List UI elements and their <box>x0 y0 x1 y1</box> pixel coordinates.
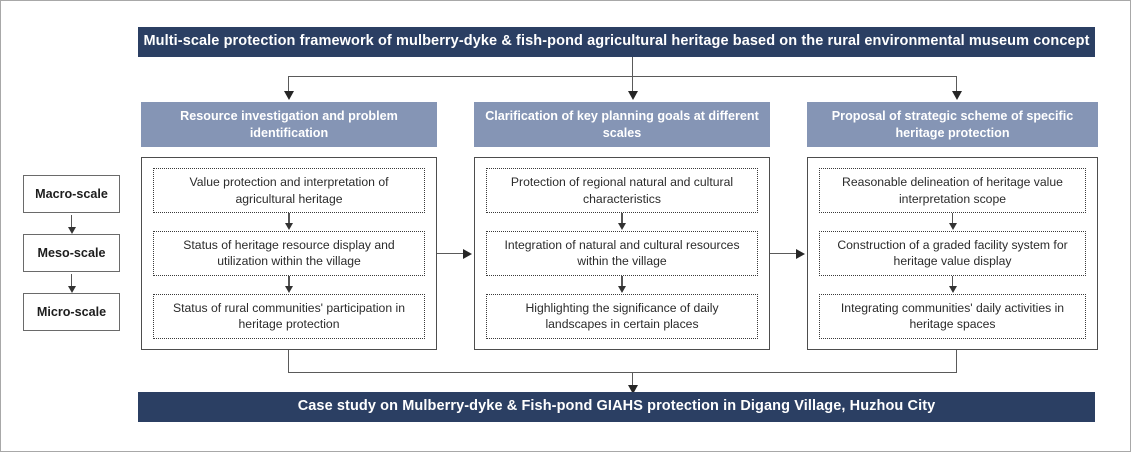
column-header-label: Proposal of strategic scheme of specific… <box>817 108 1088 142</box>
arrow-head-icon <box>618 223 626 230</box>
arrowhead-panel2-to-panel3 <box>796 249 805 259</box>
connector-bus-top <box>288 76 957 77</box>
inner-arrow-down <box>819 276 1086 294</box>
connector-bus-bottom <box>288 372 957 373</box>
column-panel-3: Reasonable delineation of heritage value… <box>807 157 1098 350</box>
inner-arrow-down <box>153 213 425 231</box>
column-panel-2: Protection of regional natural and cultu… <box>474 157 770 350</box>
scale-arrow-macro-to-meso <box>71 215 72 229</box>
arrow-head-icon <box>285 286 293 293</box>
column-header-label: Resource investigation and problem ident… <box>151 108 427 142</box>
scale-box-macro[interactable]: Macro-scale <box>23 175 120 213</box>
process-box[interactable]: Integration of natural and cultural reso… <box>486 231 758 276</box>
process-box[interactable]: Status of heritage resource display and … <box>153 231 425 276</box>
flowchart-diagram: Multi-scale protection framework of mulb… <box>0 0 1131 452</box>
scale-box-meso[interactable]: Meso-scale <box>23 234 120 272</box>
arrowhead-panel1-to-panel2 <box>463 249 472 259</box>
scale-label: Micro-scale <box>37 305 106 319</box>
connector-panel2-to-panel3 <box>770 253 798 254</box>
inner-arrow-down <box>486 213 758 231</box>
arrow-head-icon <box>949 223 957 230</box>
connector-leg-top-right <box>956 76 957 92</box>
arrowhead-to-column-3 <box>952 91 962 100</box>
connector-leg-bottom-left <box>288 350 289 373</box>
connector-leg-top-left <box>288 76 289 92</box>
arrow-head-icon <box>618 286 626 293</box>
top-banner-title: Multi-scale protection framework of mulb… <box>138 27 1095 57</box>
connector-panel1-to-panel2 <box>437 253 465 254</box>
arrow-head-icon <box>949 286 957 293</box>
column-header-label: Clarification of key planning goals at d… <box>484 108 760 142</box>
arrowhead-to-column-1 <box>284 91 294 100</box>
column-header-resource-investigation[interactable]: Resource investigation and problem ident… <box>141 102 437 147</box>
process-box[interactable]: Highlighting the significance of daily l… <box>486 294 758 339</box>
scale-box-micro[interactable]: Micro-scale <box>23 293 120 331</box>
column-header-strategic-scheme[interactable]: Proposal of strategic scheme of specific… <box>807 102 1098 147</box>
column-panel-1: Value protection and interpretation of a… <box>141 157 437 350</box>
process-box[interactable]: Protection of regional natural and cultu… <box>486 168 758 213</box>
process-box[interactable]: Integrating communities' daily activitie… <box>819 294 1086 339</box>
process-box[interactable]: Construction of a graded facility system… <box>819 231 1086 276</box>
inner-arrow-down <box>153 276 425 294</box>
process-box[interactable]: Status of rural communities' participati… <box>153 294 425 339</box>
inner-arrow-down <box>486 276 758 294</box>
column-header-planning-goals[interactable]: Clarification of key planning goals at d… <box>474 102 770 147</box>
process-box[interactable]: Value protection and interpretation of a… <box>153 168 425 213</box>
scale-label: Macro-scale <box>35 187 108 201</box>
scale-arrow-meso-to-micro <box>71 274 72 288</box>
arrow-head-icon <box>285 223 293 230</box>
bottom-banner-title: Case study on Mulberry-dyke & Fish-pond … <box>138 392 1095 422</box>
connector-leg-bottom-right <box>956 350 957 373</box>
arrowhead-to-column-2 <box>628 91 638 100</box>
inner-arrow-down <box>819 213 1086 231</box>
scale-label: Meso-scale <box>38 246 106 260</box>
process-box[interactable]: Reasonable delineation of heritage value… <box>819 168 1086 213</box>
